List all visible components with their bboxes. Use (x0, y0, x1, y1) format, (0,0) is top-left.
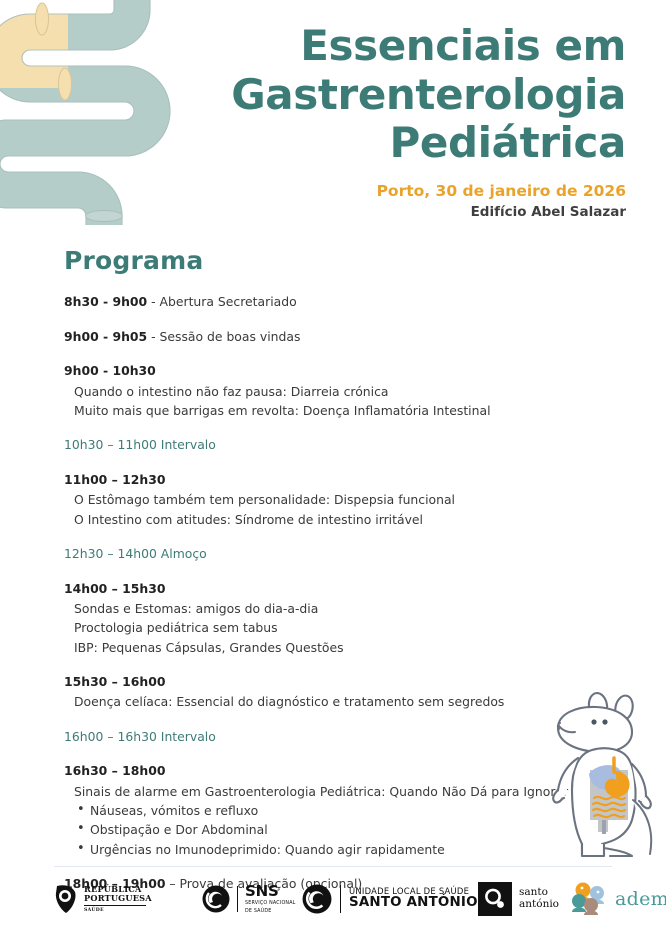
program-topic-list: O Estômago também tem personalidade: Dis… (64, 490, 604, 528)
republica-line-2: PORTUGUESA (84, 894, 152, 903)
program-topic-list: Doença celíaca: Essencial do diagnóstico… (64, 692, 604, 711)
program-block: 14h00 – 15h30Sondas e Estomas: amigos do… (64, 580, 604, 657)
uls-divider (340, 885, 341, 913)
program-topic: Proctologia pediátrica sem tabus (64, 618, 604, 637)
program-time-label: 11h00 – 12h30 (64, 472, 165, 487)
program-time-label: 16h30 – 18h00 (64, 763, 165, 778)
santo-antonio-mark (478, 882, 512, 916)
program-block: 15h30 – 16h00Doença celíaca: Essencial d… (64, 673, 604, 712)
program-block: 8h30 - 9h00 - Abertura Secretariado (64, 293, 604, 312)
event-date: Porto, 30 de janeiro de 2026 (226, 182, 626, 200)
sns-logo: SNS SERVIÇO NACIONAL DE SAÚDE (202, 876, 296, 922)
program-topic-bullet: Urgências no Imunodeprimido: Quando agir… (64, 840, 604, 859)
program-time-label: 9h00 - 10h30 (64, 363, 156, 378)
program-time-label: 8h30 - 9h00 (64, 294, 147, 309)
sns-swirl-icon (202, 885, 230, 913)
program-break-label: 10h30 – 11h00 Intervalo (64, 436, 604, 455)
program-topic: O Intestino com atitudes: Síndrome de in… (64, 510, 604, 529)
program-topic-list: Sinais de alarme em Gastroenterologia Pe… (64, 782, 604, 859)
program-topic: Sondas e Estomas: amigos do dia-a-dia (64, 599, 604, 618)
program-block: 11h00 – 12h30O Estômago também tem perso… (64, 471, 604, 529)
program-topic-bullet: Obstipação e Dor Abdominal (64, 820, 604, 839)
title-line-2: Gastrenterologia (226, 71, 626, 120)
program-break: 12h30 – 14h00 Almoço (64, 545, 604, 564)
title-line-3: Pediátrica (226, 119, 626, 168)
magnifier-circle-icon (483, 887, 507, 911)
program-topic: Sinais de alarme em Gastroenterologia Pe… (64, 782, 604, 801)
program-topic-list: Sondas e Estomas: amigos do dia-a-diaPro… (64, 599, 604, 657)
republica-rule (84, 905, 146, 906)
program-block-time: 14h00 – 15h30 (64, 580, 604, 599)
program-topic: Doença celíaca: Essencial do diagnóstico… (64, 692, 604, 711)
program-break-label: 12h30 – 14h00 Almoço (64, 545, 604, 564)
footer-logo-row: REPÚBLICA PORTUGUESA SAÚDE SNS SERVIÇO N… (54, 876, 624, 924)
programa-section: Programa 8h30 - 9h00 - Abertura Secretar… (64, 246, 604, 909)
program-topic: Quando o intestino não faz pausa: Diarre… (64, 382, 604, 401)
program-topic-list: Quando o intestino não faz pausa: Diarre… (64, 382, 604, 420)
program-inline-description: - Sessão de boas vindas (147, 329, 300, 344)
program-time-label: 9h00 - 9h05 (64, 329, 147, 344)
shield-emblem-icon (54, 884, 78, 914)
uls-main-line: SANTO ANTÓNIO (349, 896, 478, 911)
sns-divider (237, 886, 238, 912)
program-block-time: 15h30 – 16h00 (64, 673, 604, 692)
republica-portuguesa-logo: REPÚBLICA PORTUGUESA SAÚDE (54, 876, 152, 922)
sns-acronym: SNS (245, 884, 296, 899)
footer-divider (54, 866, 612, 867)
poster-title-block: Essenciais em Gastrenterologia Pediátric… (226, 22, 626, 220)
program-time-label: 15h30 – 16h00 (64, 674, 165, 689)
program-block-time: 16h30 – 18h00 (64, 762, 604, 781)
intestine-decoration (0, 0, 200, 225)
sns-sub-line-1: SERVIÇO NACIONAL (245, 901, 296, 907)
program-topic: Muito mais que barrigas em revolta: Doen… (64, 401, 604, 420)
sns-sub-line-2: DE SAÚDE (245, 909, 296, 915)
program-time-label: 14h00 – 15h30 (64, 581, 165, 596)
program-block: 9h00 - 9h05 - Sessão de boas vindas (64, 328, 604, 347)
program-topic-bullet: Náuseas, vómitos e refluxo (64, 801, 604, 820)
program-block: 16h30 – 18h00Sinais de alarme em Gastroe… (64, 762, 604, 858)
program-break: 10h30 – 11h00 Intervalo (64, 436, 604, 455)
program-block-time: 8h30 - 9h00 - Abertura Secretariado (64, 293, 604, 312)
program-break: 16h00 – 16h30 Intervalo (64, 728, 604, 747)
program-inline-description: - Abertura Secretariado (147, 294, 297, 309)
santo-antonio-line-2: antónio (519, 899, 559, 911)
program-block-time: 9h00 - 9h05 - Sessão de boas vindas (64, 328, 604, 347)
programa-heading: Programa (64, 246, 604, 275)
program-block-time: 11h00 – 12h30 (64, 471, 604, 490)
event-venue: Edifício Abel Salazar (226, 204, 626, 220)
santo-antonio-logo: santo antónio (478, 876, 559, 922)
title-line-1: Essenciais em (226, 22, 626, 71)
ademi-wordmark: ademi (615, 888, 666, 910)
program-block: 9h00 - 10h30Quando o intestino não faz p… (64, 362, 604, 420)
programa-block-list: 8h30 - 9h00 - Abertura Secretariado9h00 … (64, 293, 604, 893)
program-break-label: 16h00 – 16h30 Intervalo (64, 728, 604, 747)
ademi-logo: ademi (568, 876, 666, 922)
program-block-time: 9h00 - 10h30 (64, 362, 604, 381)
uls-swirl-icon (302, 884, 332, 914)
program-topic: IBP: Pequenas Cápsulas, Grandes Questões (64, 638, 604, 657)
republica-sub: SAÚDE (84, 908, 152, 913)
unidade-local-saude-santo-antonio-logo: UNIDADE LOCAL DE SAÚDE SANTO ANTÓNIO (302, 876, 478, 922)
ademi-people-icon (568, 881, 614, 917)
program-topic: O Estômago também tem personalidade: Dis… (64, 490, 604, 509)
